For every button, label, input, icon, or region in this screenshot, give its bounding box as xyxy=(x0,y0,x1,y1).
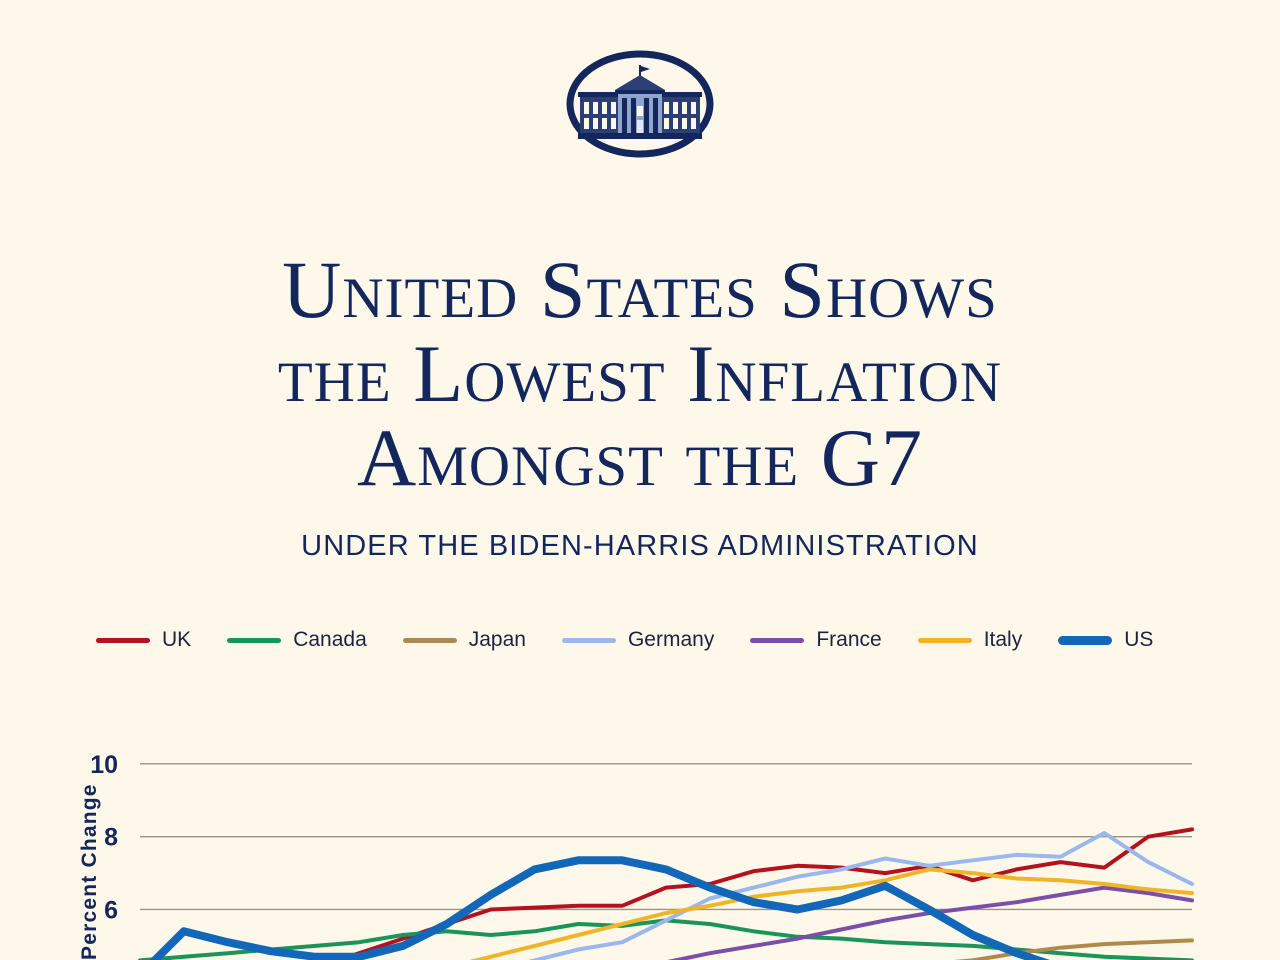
headline-line-1: United States Shows xyxy=(282,244,998,335)
series-line-germany xyxy=(140,833,1192,960)
series-line-uk xyxy=(140,829,1192,960)
legend-swatch-us xyxy=(1058,636,1112,645)
legend-item-france[interactable]: France xyxy=(750,628,881,652)
legend-label: Canada xyxy=(293,628,367,652)
legend-label: US xyxy=(1124,628,1153,652)
legend-swatch-germany xyxy=(562,638,616,643)
y-tick-label: 6 xyxy=(104,896,118,924)
legend-label: Italy xyxy=(984,628,1023,652)
page-subtitle: Under the Biden-Harris Administration xyxy=(0,500,1280,563)
legend-swatch-italy xyxy=(918,638,972,643)
y-tick-label: 8 xyxy=(104,824,118,852)
legend-swatch-japan xyxy=(403,638,457,643)
legend-label: UK xyxy=(162,628,191,652)
legend-item-germany[interactable]: Germany xyxy=(562,628,714,652)
y-axis-title: Percent Change xyxy=(78,783,102,960)
legend-label: Germany xyxy=(628,628,714,652)
legend-item-uk[interactable]: UK xyxy=(96,628,191,652)
legend-swatch-uk xyxy=(96,638,150,643)
chart-canvas: 6810 xyxy=(0,700,1280,960)
legend-label: France xyxy=(816,628,881,652)
white-house-logo xyxy=(0,48,1280,160)
legend-swatch-canada xyxy=(227,638,281,643)
page-title: United States Shows the Lowest Inflation… xyxy=(0,248,1280,500)
legend-swatch-france xyxy=(750,638,804,643)
legend-item-canada[interactable]: Canada xyxy=(227,628,367,652)
headline-line-2: the Lowest Inflation xyxy=(278,328,1002,419)
chart-legend: UKCanadaJapanGermanyFranceItalyUS xyxy=(96,628,1196,652)
legend-item-us[interactable]: US xyxy=(1058,628,1153,652)
legend-item-italy[interactable]: Italy xyxy=(918,628,1023,652)
white-house-seal-icon xyxy=(564,48,716,160)
title-block: United States Shows the Lowest Inflation… xyxy=(0,248,1280,563)
legend-label: Japan xyxy=(469,628,526,652)
inflation-line-chart: 6810 xyxy=(0,700,1280,960)
legend-item-japan[interactable]: Japan xyxy=(403,628,526,652)
y-tick-label: 10 xyxy=(90,751,118,779)
headline-line-3: Amongst the G7 xyxy=(357,412,923,503)
